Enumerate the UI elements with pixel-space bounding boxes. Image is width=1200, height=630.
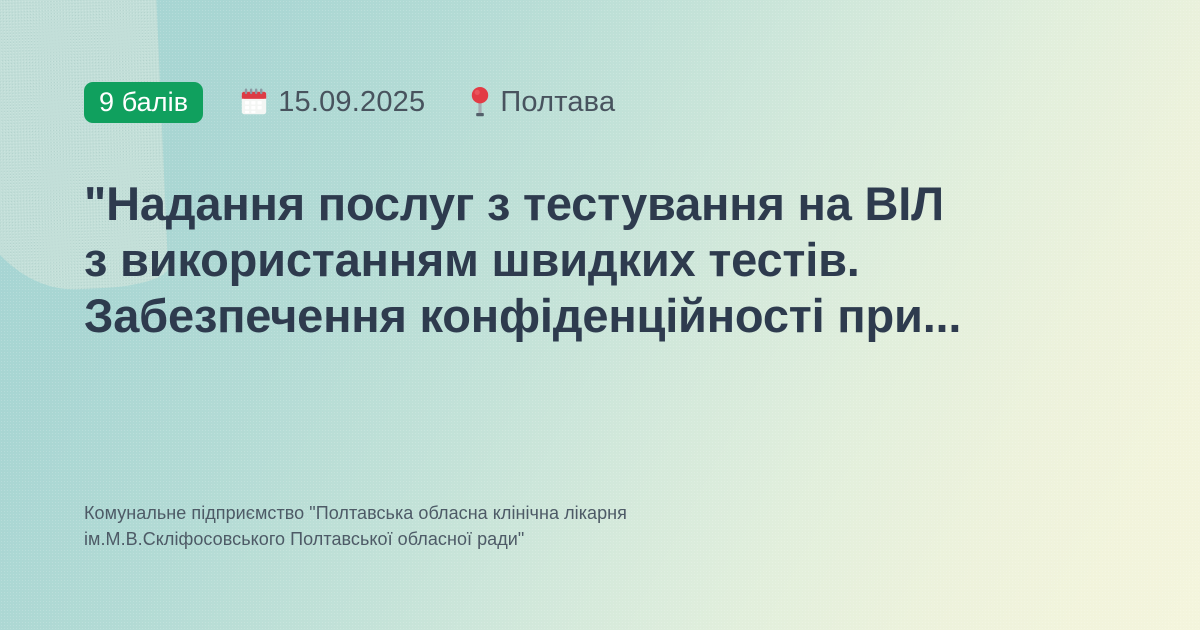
organization-name: Комунальне підприємство "Полтавська обла… [84,500,884,552]
page-title: "Надання послуг з тестування на ВІЛ з ви… [84,176,1132,344]
event-date: 15.09.2025 [278,88,425,117]
map-pin-icon [467,86,493,118]
event-card: 9 балів [0,0,1200,630]
meta-row: 9 балів [84,81,615,123]
card-content: 9 балів [84,0,1144,630]
score-badge: 9 балів [84,82,203,123]
calendar-icon [239,87,269,117]
location-meta-item: Полтава [467,86,615,118]
event-location: Полтава [500,88,615,117]
date-meta-item: 15.09.2025 [239,87,425,117]
